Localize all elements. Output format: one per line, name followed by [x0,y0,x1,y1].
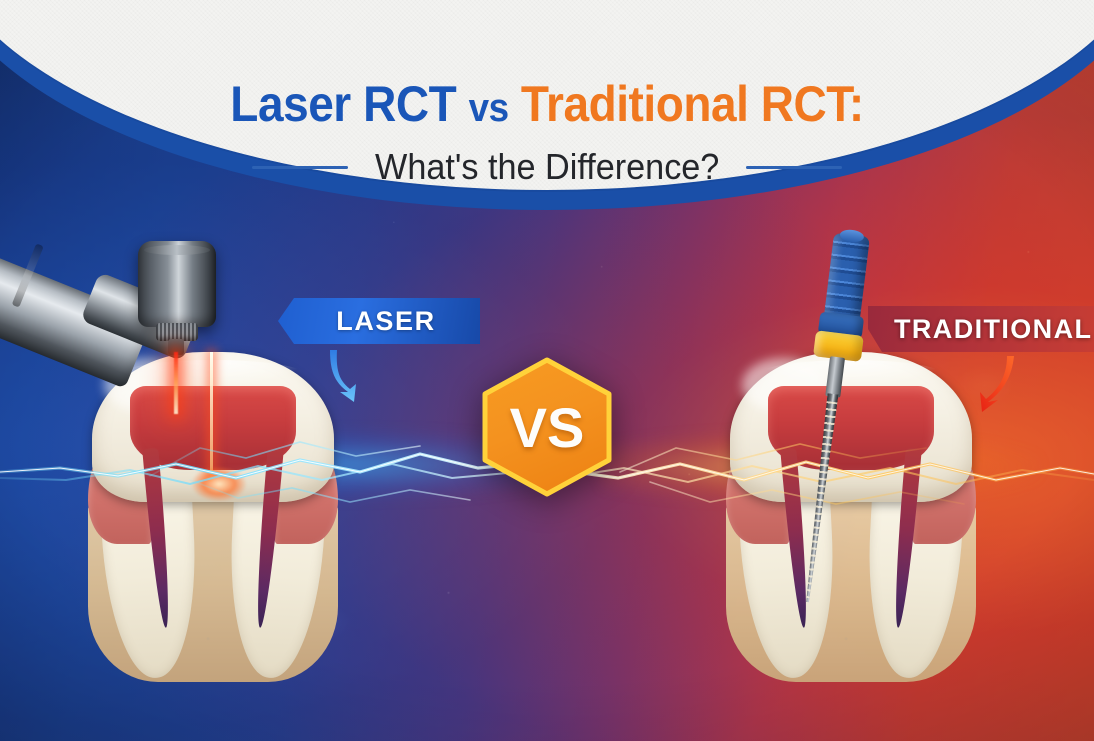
versus-label: VS [478,357,616,497]
laser-hotspot-glow-icon [184,462,254,506]
dental-laser-handpiece-icon [0,215,260,375]
subtitle-row: What's the Difference? [0,146,1094,188]
title-part-laser-rct: Laser RCT [230,76,456,132]
arrow-down-blue-icon [320,348,366,404]
poster-canvas: Laser RCT vs Traditional RCT: What's the… [0,0,1094,741]
file-handle [824,233,870,321]
file-shank [825,356,845,398]
page-title: Laser RCT vs Traditional RCT: [44,78,1050,130]
versus-badge: VS [478,357,616,497]
label-laser[interactable]: LASER [278,298,480,344]
title-part-traditional-rct: Traditional RCT: [521,76,864,132]
arrow-down-red-icon [966,352,1022,414]
page-subtitle: What's the Difference? [375,146,719,188]
subtitle-rule-left [252,166,348,169]
file-serrations [803,401,838,599]
cross-section-molar-tooth-laser-icon [88,352,338,682]
title-connector-vs: vs [469,86,509,130]
label-traditional[interactable]: TRADITIONAL [868,306,1094,352]
subtitle-rule-right [746,166,842,169]
title-block: Laser RCT vs Traditional RCT: What's the… [0,78,1094,188]
label-traditional-text: TRADITIONAL [868,314,1092,345]
handpiece-head [138,241,216,327]
label-laser-text: LASER [322,306,436,337]
laser-beam-icon [174,352,178,414]
